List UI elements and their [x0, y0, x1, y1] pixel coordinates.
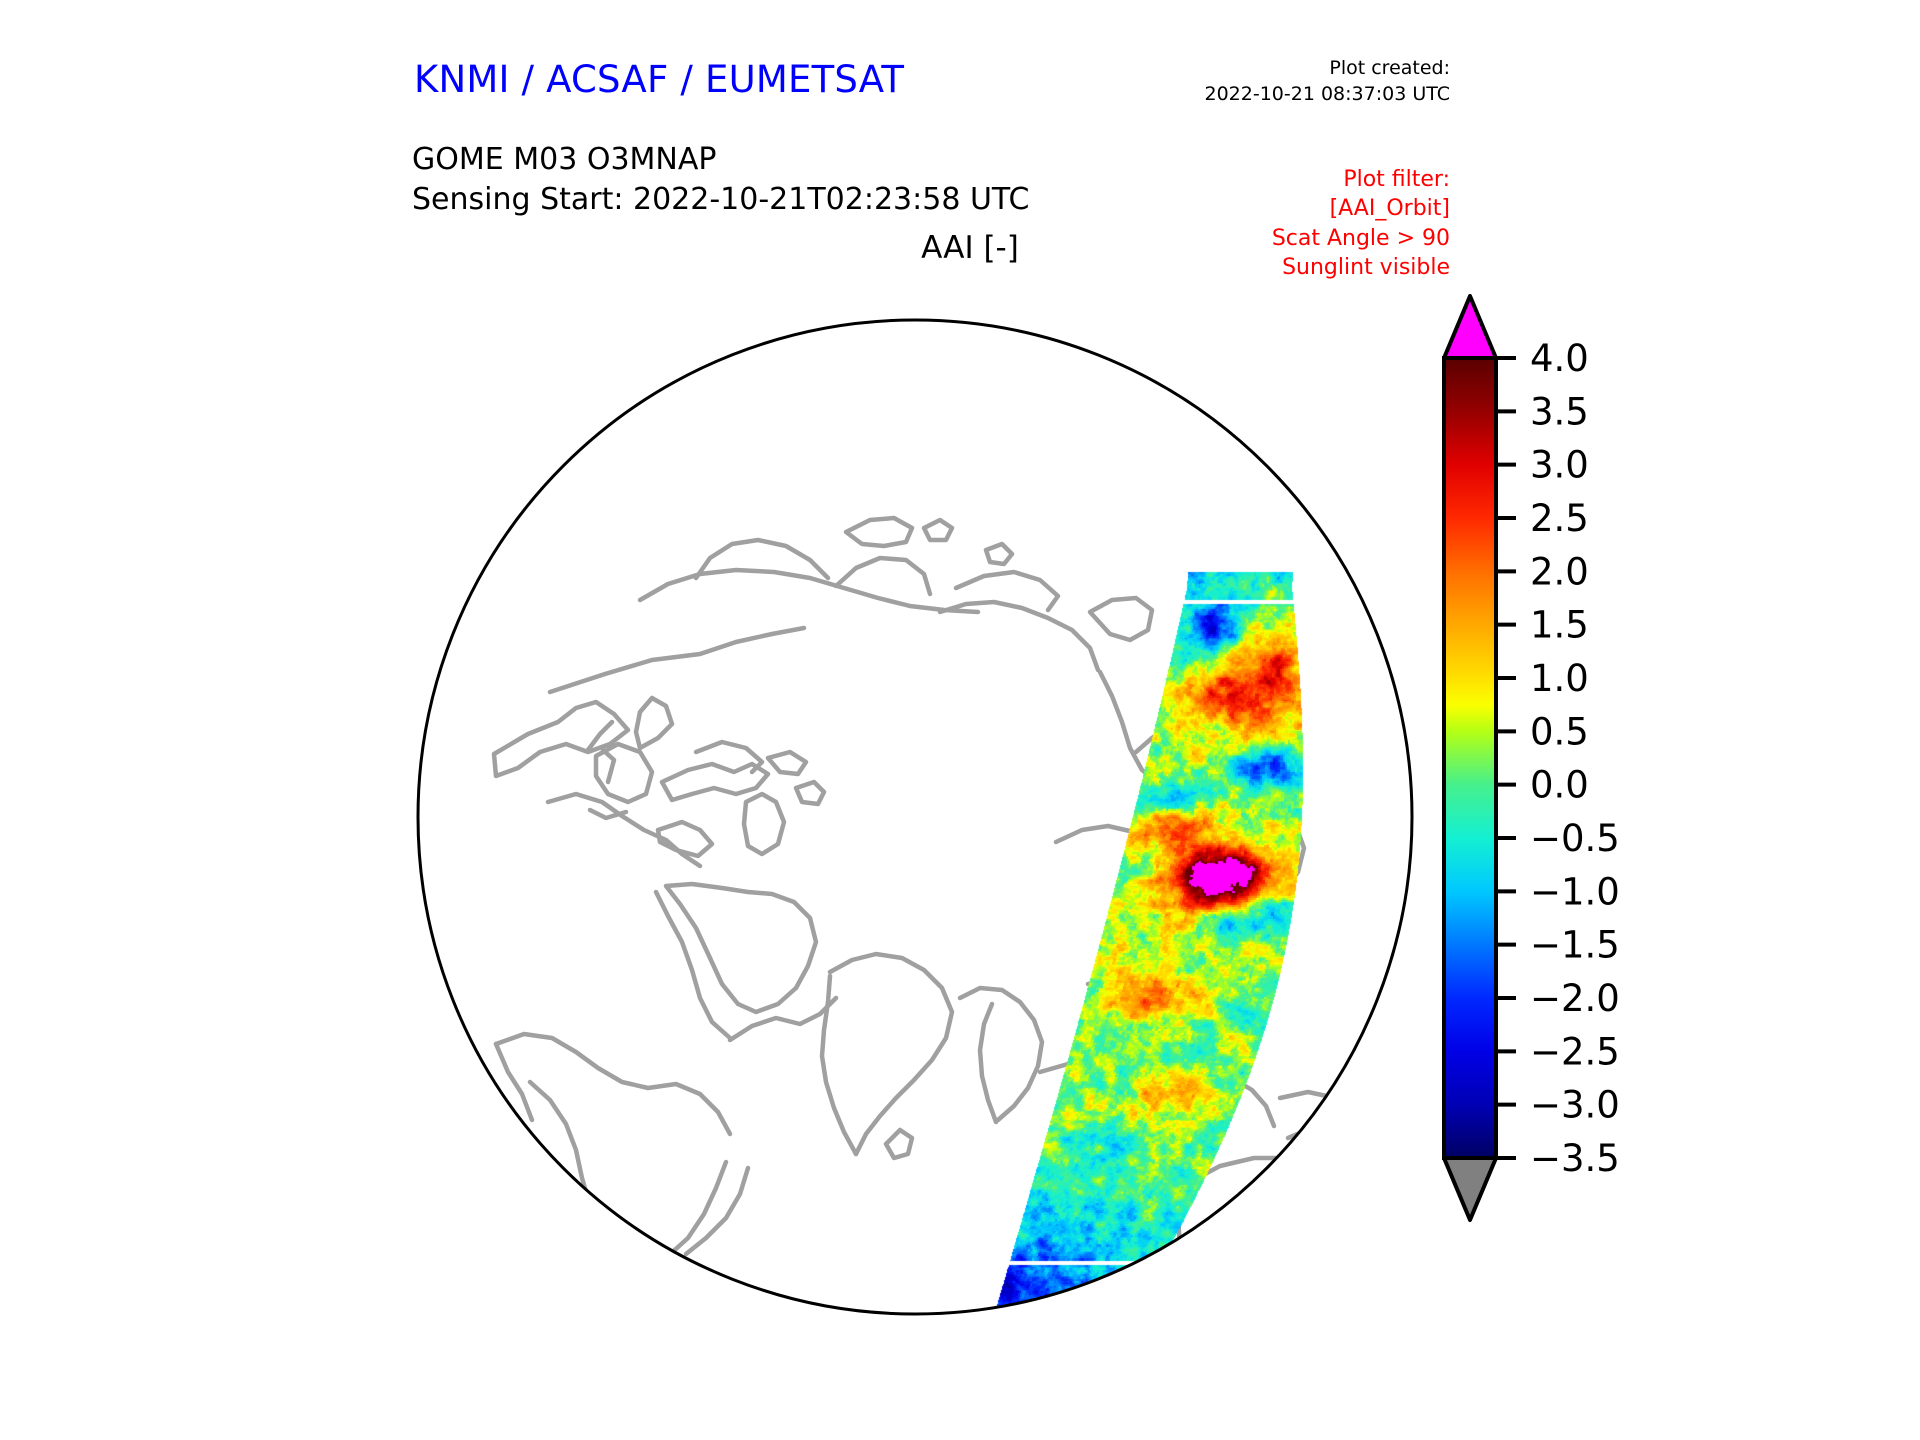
plot-created-block: Plot created: 2022-10-21 08:37:03 UTC [1130, 56, 1450, 107]
colorbar-tick-label: 2.0 [1530, 550, 1589, 593]
organisation-title: KNMI / ACSAF / EUMETSAT [414, 58, 904, 101]
colorbar-tick-label: 4.0 [1530, 337, 1589, 380]
colorbar-under-range-arrow [1444, 1158, 1496, 1220]
plot-filter-block: Plot filter: [AAI_Orbit] Scat Angle > 90… [1130, 165, 1450, 282]
colorbar-tick-label: 1.5 [1530, 604, 1589, 647]
satellite-swath-group [400, 282, 1430, 1352]
colorbar-tick-label: −2.5 [1530, 1030, 1620, 1073]
plot-created-label: Plot created: [1130, 56, 1450, 82]
dataset-block: GOME M03 O3MNAP Sensing Start: 2022-10-2… [412, 140, 1029, 220]
plot-filter-line: Sunglint visible [1130, 253, 1450, 282]
sensing-start: Sensing Start: 2022-10-21T02:23:58 UTC [412, 180, 1029, 220]
plot-filter-line: Scat Angle > 90 [1130, 224, 1450, 253]
colorbar-tick-label: 0.5 [1530, 710, 1589, 753]
colorbar-over-range-arrow [1444, 296, 1496, 358]
orthographic-globe-map [400, 282, 1430, 1352]
colorbar-gradient-bar [1444, 358, 1496, 1158]
plot-filter-line: [AAI_Orbit] [1130, 194, 1450, 223]
colorbar-tick-label: −2.0 [1530, 977, 1620, 1020]
dataset-name: GOME M03 O3MNAP [412, 140, 1029, 180]
colorbar: 4.03.53.02.52.01.51.00.50.0−0.5−1.0−1.5−… [1432, 280, 1692, 1290]
colorbar-tick-label: 0.0 [1530, 764, 1589, 807]
plot-filter-title: Plot filter: [1130, 165, 1450, 194]
colorbar-tick-label: −1.0 [1530, 870, 1620, 913]
colorbar-tick-label: −3.5 [1530, 1137, 1620, 1180]
colorbar-tick-label: 3.0 [1530, 444, 1589, 487]
colorbar-tick-label: −0.5 [1530, 817, 1620, 860]
colorbar-tick-label: −1.5 [1530, 924, 1620, 967]
plot-created-timestamp: 2022-10-21 08:37:03 UTC [1130, 82, 1450, 108]
colorbar-tick-label: 3.5 [1530, 390, 1589, 433]
colorbar-tick-label: 2.5 [1530, 497, 1589, 540]
colorbar-tick-label: −3.0 [1530, 1084, 1620, 1127]
aai-swath-raster [400, 282, 1430, 1352]
colorbar-tick-label: 1.0 [1530, 657, 1589, 700]
